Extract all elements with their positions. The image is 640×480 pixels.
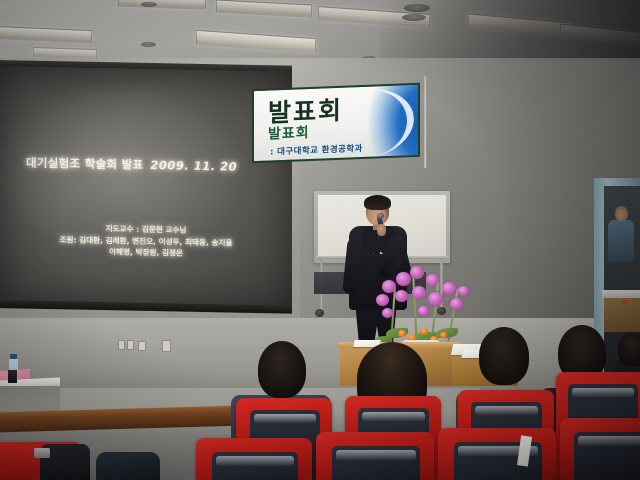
orange-flower [420,328,428,335]
orchid-bloom [395,290,408,302]
orchid-bloom [382,280,396,293]
orchid-bloom [458,286,469,296]
seat-highlight [336,450,416,460]
orchid-bloom [396,272,411,286]
orange-flower [440,332,447,338]
orchid-bloom [412,286,426,299]
wall-outlet [138,341,146,351]
wall-lower-section [0,318,640,390]
ceiling-speaker [141,42,156,47]
doorway-person-head [615,206,628,221]
slide-title-line: 대기실험조 학술회 발표2009. 11. 20 [26,155,266,176]
orchid-bloom [442,282,456,295]
doorway-red-marker [622,300,627,305]
orchid-bloom [428,292,443,306]
bottle-cap [10,354,17,359]
slide-credits-block: 지도교수 : 김문현 교수님 조원: 김대환, 김래환, 변진오, 이성우, 최… [24,222,268,261]
wall-outlet [162,340,171,352]
speaker-hand [377,224,386,236]
photo-scene: 대기실험조 학술회 발표2009. 11. 20 지도교수 : 김문현 교수님 … [0,0,640,480]
foreground-dark-shape [96,452,160,480]
orchid-bloom [418,306,429,316]
orchid-bloom [376,294,389,306]
seat-highlight [216,456,294,466]
foreground-held-device [34,448,50,458]
doorway-person-body [608,220,634,262]
seat-highlight [362,412,425,421]
audience-head [479,327,529,385]
seat-highlight [475,406,538,415]
banner-support-pole [424,76,427,168]
orchid-bloom [426,274,439,286]
seat-highlight [572,388,634,397]
seat-highlight [254,414,316,423]
wall-outlet [118,340,125,350]
audience-head [618,332,640,366]
microphone-head-icon [377,213,384,219]
slide-title-text: 대기실험조 학술회 발표 [26,156,143,172]
seat-highlight [578,436,640,446]
event-banner: 발표회 발표회 : 대구대학교 환경공학과 [252,83,420,163]
dark-object-on-table [8,370,17,383]
orchid-bloom [450,298,463,310]
orchid-bloom [382,308,393,318]
ceiling-speaker [141,2,157,7]
projector-glow [0,66,292,312]
speaker-hair [364,195,391,210]
banner-subhead: 발표회 [268,122,310,144]
whiteboard-caster [315,309,324,317]
orchid-bloom [410,266,424,279]
audience-head [258,341,306,398]
banner-face: 발표회 발표회 : 대구대학교 환경공학과 [252,83,420,163]
slide-date-text: 2009. 11. 20 [150,158,237,174]
orange-flower [398,330,406,337]
wall-outlet [127,340,134,350]
projection-screen: 대기실험조 학술회 발표2009. 11. 20 지도교수 : 김문현 교수님 … [0,66,292,312]
